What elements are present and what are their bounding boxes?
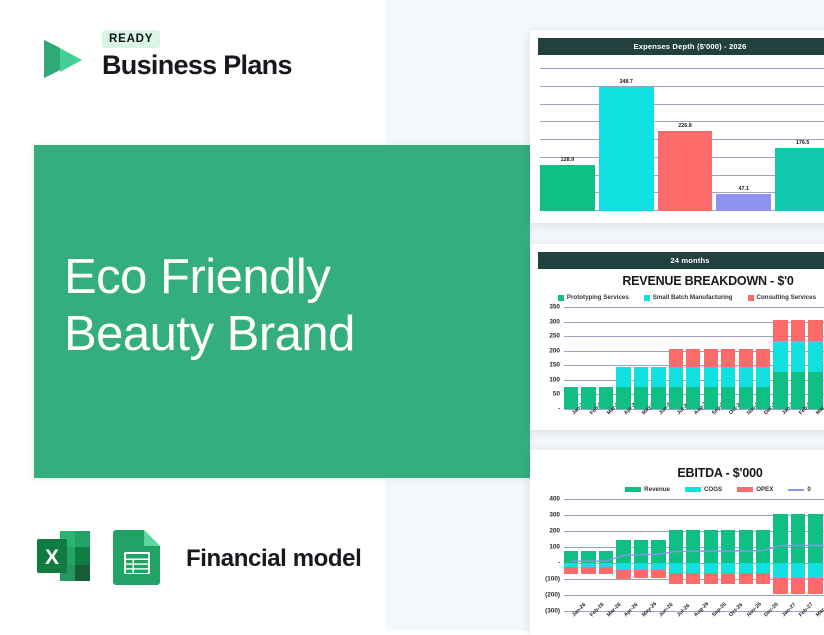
ebitda-chart-legend: RevenueCOGSOPEX0 <box>586 486 824 493</box>
legend-swatch-icon <box>625 487 641 492</box>
bar: 47.1 <box>716 194 771 211</box>
ebitda-chart-title: EBITDA - $'000 <box>590 466 824 480</box>
revenue-plot-area: 35030025020015010050-Jan-26Feb-26Mar-26A… <box>564 307 824 409</box>
bar: 128.9 <box>540 165 595 211</box>
y-axis-tick-label: 100 <box>549 544 560 551</box>
bar-segment <box>739 367 753 387</box>
bar-column: Mar-27 <box>808 307 822 409</box>
chart-card-revenue-breakdown[interactable]: 24 months REVENUE BREAKDOWN - $'0 Protot… <box>530 244 824 430</box>
bar-segment <box>773 372 787 409</box>
legend-swatch-icon <box>748 295 754 301</box>
legend-swatch-icon <box>737 487 753 492</box>
bar: 176.5 <box>775 148 824 211</box>
bar-segment <box>721 367 735 387</box>
gridline <box>540 104 824 105</box>
financial-model-label: Financial model <box>186 545 361 573</box>
bar-segment <box>704 367 718 387</box>
bar-column: Oct-26 <box>721 307 735 409</box>
bar-column: Apr-26 <box>616 307 630 409</box>
y-axis-tick-label: - <box>558 560 560 567</box>
bar-segment <box>756 367 770 387</box>
bar-segment <box>791 341 805 372</box>
bar-segment <box>773 320 787 341</box>
y-axis-tick-label: (100) <box>545 576 560 583</box>
bar-column: Feb-27 <box>791 307 805 409</box>
y-axis-tick-label: 300 <box>549 512 560 519</box>
bar-segment <box>686 349 700 366</box>
legend-label: OPEX <box>756 486 773 493</box>
legend-label: Revenue <box>644 486 670 493</box>
y-axis-tick-label: 50 <box>553 391 560 398</box>
bar-column: Feb-26 <box>581 307 595 409</box>
y-axis-tick-label: 200 <box>549 347 560 354</box>
bar-segment <box>669 349 683 366</box>
legend-item: Prototyping Services <box>558 294 629 301</box>
bar-segment <box>634 367 648 387</box>
bar-column: Nov-26 <box>739 307 753 409</box>
bar-column: Jan-27 <box>773 307 787 409</box>
expenses-chart-header: Expenses Depth ($'000) - 2026 <box>538 38 824 55</box>
bar-segment <box>791 320 805 341</box>
svg-text:X: X <box>45 546 59 569</box>
y-axis-tick-label: 300 <box>549 318 560 325</box>
legend-item: Small Batch Manufacturing <box>644 294 733 301</box>
y-axis-tick-label: (200) <box>545 592 560 599</box>
y-axis-tick-label: 100 <box>549 376 560 383</box>
revenue-chart-legend: Prototyping ServicesSmall Batch Manufact… <box>550 294 824 301</box>
bar-segment <box>721 349 735 366</box>
bar-segment <box>791 372 805 409</box>
y-axis-tick-label: 150 <box>549 362 560 369</box>
gridline <box>540 68 824 69</box>
legend-item: 0 <box>788 486 810 493</box>
legend-item: COGS <box>685 486 722 493</box>
legend-label: COGS <box>704 486 722 493</box>
bar-value-label: 176.5 <box>796 140 810 146</box>
file-format-row: X Financial model <box>32 525 361 592</box>
y-axis-tick-label: - <box>558 406 560 413</box>
bar-column: Jun-26 <box>651 307 665 409</box>
ebitda-plot-area: 400300200100-(100)(200)(300)Jan-26Feb-26… <box>564 499 824 611</box>
brand-name: Business Plans <box>102 51 292 79</box>
bar-segment <box>669 367 683 387</box>
legend-item: Consulting Services <box>748 294 817 301</box>
bar-column: Sep-26 <box>704 307 718 409</box>
bar-column: Mar-26 <box>599 307 613 409</box>
y-axis-tick-label: 200 <box>549 528 560 535</box>
bar: 226.8 <box>658 131 713 212</box>
chart-card-ebitda[interactable]: EBITDA - $'000 RevenueCOGSOPEX0 40030020… <box>530 450 824 635</box>
y-axis-tick-label: (300) <box>545 608 560 615</box>
page-title: Eco Friendly Beauty Brand <box>64 249 355 364</box>
bar-value-label: 47.1 <box>739 186 750 192</box>
bar: 348.7 <box>599 87 654 211</box>
chart-card-expenses[interactable]: Expenses Depth ($'000) - 2026 128.9348.7… <box>530 30 824 223</box>
ready-badge: READY <box>102 30 160 48</box>
microsoft-excel-icon: X <box>32 525 94 592</box>
legend-label: 0 <box>807 486 810 493</box>
y-axis-tick-label: 400 <box>549 496 560 503</box>
legend-label: Small Batch Manufacturing <box>653 294 733 301</box>
bar-segment <box>686 367 700 387</box>
legend-swatch-icon <box>788 489 804 491</box>
bar-value-label: 226.8 <box>678 123 692 129</box>
y-axis-tick-label: 250 <box>549 333 560 340</box>
revenue-chart-header: 24 months <box>538 252 824 269</box>
bar-column: Dec-26 <box>756 307 770 409</box>
legend-item: Revenue <box>625 486 670 493</box>
bar-segment <box>616 367 630 387</box>
bar-segment <box>773 341 787 372</box>
google-sheets-icon <box>108 525 166 592</box>
expenses-plot-area: 128.9348.7226.847.1176.5 <box>540 69 824 211</box>
hero-block: Eco Friendly Beauty Brand <box>34 145 530 478</box>
legend-label: Consulting Services <box>757 294 817 301</box>
play-triangle-logo-icon <box>30 24 92 86</box>
gridline <box>540 86 824 87</box>
bar-segment <box>651 367 665 387</box>
legend-item: OPEX <box>737 486 773 493</box>
bar-segment <box>704 349 718 366</box>
legend-label: Prototyping Services <box>567 294 629 301</box>
bar-value-label: 128.9 <box>561 157 575 163</box>
y-axis-tick-label: 350 <box>549 304 560 311</box>
bar-value-label: 348.7 <box>619 79 633 85</box>
bar-segment <box>808 320 822 341</box>
legend-swatch-icon <box>558 295 564 301</box>
bar-column: May-26 <box>634 307 648 409</box>
bar-column: Aug-26 <box>686 307 700 409</box>
bar-column: Jan-26 <box>564 307 578 409</box>
zero-trend-line <box>564 499 824 611</box>
bar-segment <box>808 341 822 372</box>
legend-swatch-icon <box>644 295 650 301</box>
bar-segment <box>808 372 822 409</box>
bar-column: Jul-26 <box>669 307 683 409</box>
legend-swatch-icon <box>685 487 701 492</box>
brand-logo: READY Business Plans <box>30 24 292 86</box>
revenue-chart-title: REVENUE BREAKDOWN - $'0 <box>566 274 824 288</box>
bar-segment <box>756 349 770 366</box>
bar-segment <box>739 349 753 366</box>
